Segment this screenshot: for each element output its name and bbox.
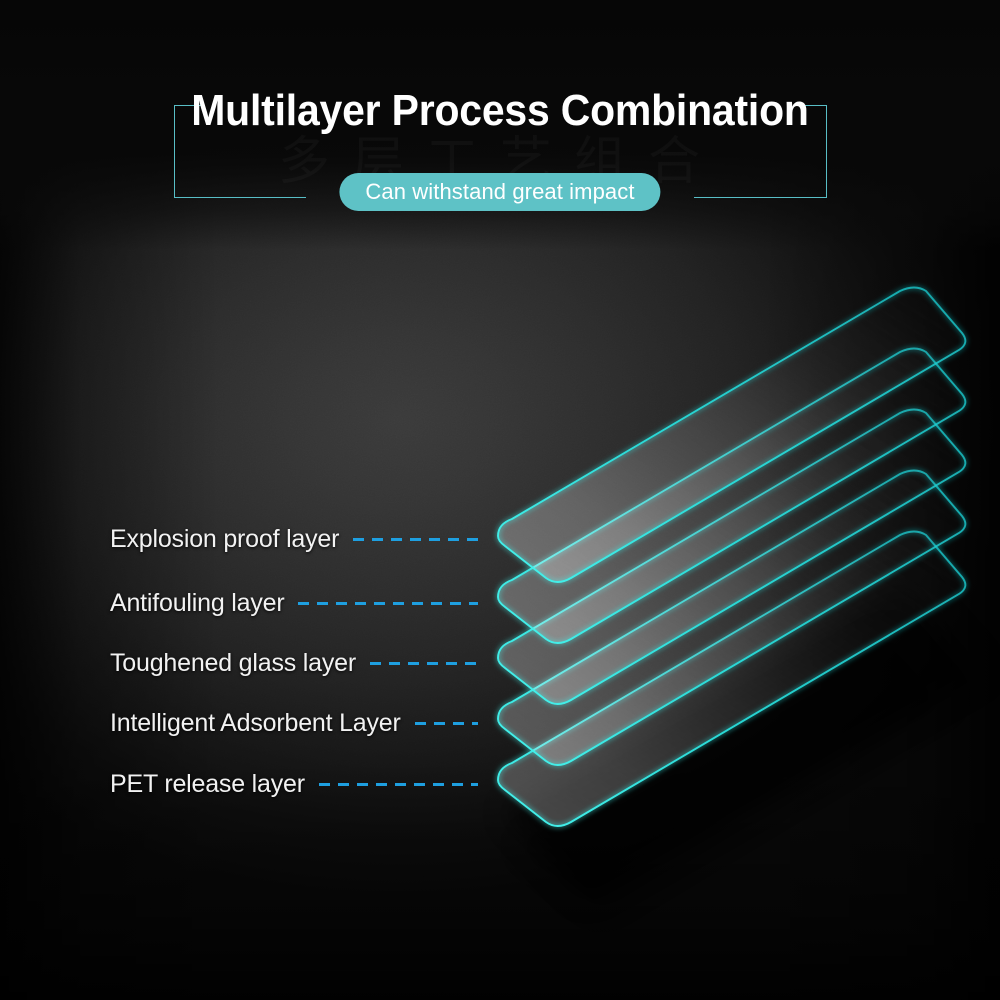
- leader-line-icon: [319, 783, 478, 786]
- leader-line-icon: [298, 602, 478, 605]
- page-title: Multilayer Process Combination: [35, 86, 965, 136]
- layer-label-text: Antifouling layer: [110, 590, 284, 616]
- layer-label-text: Intelligent Adsorbent Layer: [110, 710, 401, 736]
- layer-label-text: PET release layer: [110, 771, 305, 797]
- layer-label-toughened-glass-layer: Toughened glass layer: [0, 650, 500, 676]
- product-infographic: Explosion proof layer Antifouling layer …: [0, 0, 1000, 1000]
- layer-label-text: Explosion proof layer: [110, 526, 339, 552]
- layer-label-intelligent-adsorbent-layer: Intelligent Adsorbent Layer: [0, 710, 500, 736]
- bracket-rule-right-icon: [694, 197, 826, 199]
- leader-line-icon: [370, 662, 478, 665]
- leader-line-icon: [415, 722, 478, 725]
- layer-label-pet-release-layer: PET release layer: [0, 771, 500, 797]
- layer-label-explosion-proof-layer: Explosion proof layer: [0, 526, 500, 552]
- layer-label-antifouling-layer: Antifouling layer: [0, 590, 500, 616]
- layer-label-text: Toughened glass layer: [110, 650, 356, 676]
- tagline-badge-label: Can withstand great impact: [365, 179, 634, 205]
- bracket-rule-left-icon: [174, 197, 306, 199]
- tagline-badge: Can withstand great impact: [339, 173, 660, 211]
- leader-line-icon: [353, 538, 478, 541]
